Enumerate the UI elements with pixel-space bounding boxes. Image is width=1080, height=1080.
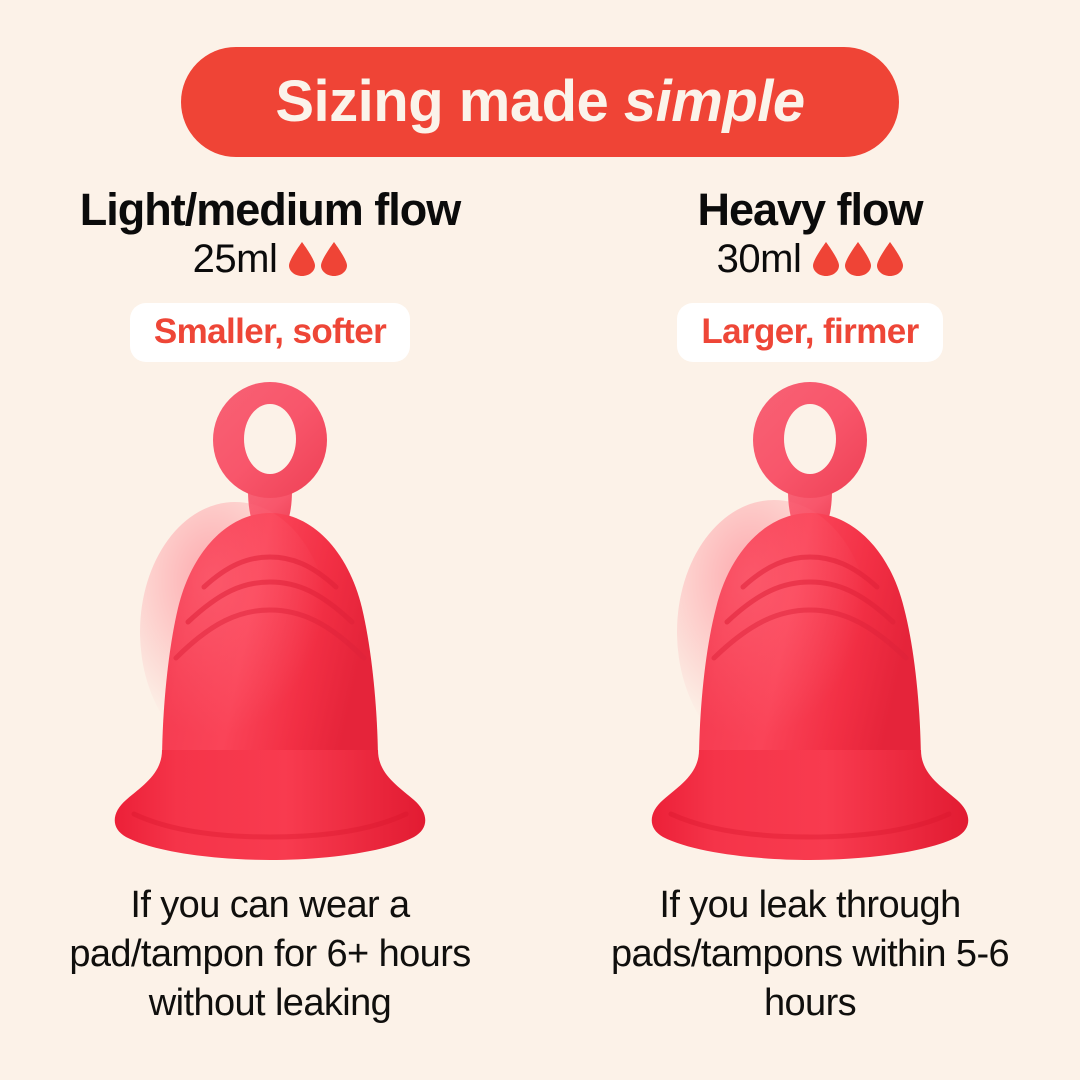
cup-illustration-area (540, 382, 1080, 879)
blood-drop-icon (845, 242, 871, 276)
page-title-emphasis: simple (624, 69, 805, 134)
menstrual-cup-large-illustration (638, 382, 982, 879)
drop-rating (813, 242, 903, 276)
column-title: Light/medium flow (80, 185, 460, 235)
page-title: Sizing made simple (275, 73, 804, 131)
page-title-prefix: Sizing made (275, 69, 624, 134)
blood-drop-icon (321, 242, 347, 276)
title-pill: Sizing made simple (181, 47, 899, 157)
volume-row: 25ml (193, 239, 348, 279)
blood-drop-icon (877, 242, 903, 276)
attribute-badge-label: Larger, firmer (701, 312, 918, 351)
volume-value: 25ml (193, 239, 278, 279)
usage-caption: If you leak through pads/tampons within … (575, 881, 1045, 1027)
drop-rating (289, 242, 347, 276)
menstrual-cup-small-illustration (100, 382, 440, 879)
blood-drop-icon (813, 242, 839, 276)
column-title: Heavy flow (697, 185, 922, 235)
cup-illustration-area (0, 382, 540, 879)
attribute-badge-label: Smaller, softer (154, 312, 386, 351)
column-light-medium: Light/medium flow 25ml Smaller, softer (0, 185, 540, 1080)
column-heavy: Heavy flow 30ml Larger, firmer (540, 185, 1080, 1080)
sizing-comparison: Light/medium flow 25ml Smaller, softer (0, 185, 1080, 1080)
attribute-badge: Smaller, softer (130, 303, 410, 362)
volume-value: 30ml (717, 239, 802, 279)
blood-drop-icon (289, 242, 315, 276)
volume-row: 30ml (717, 239, 904, 279)
attribute-badge: Larger, firmer (677, 303, 942, 362)
usage-caption: If you can wear a pad/tampon for 6+ hour… (35, 881, 505, 1027)
header: Sizing made simple (0, 47, 1080, 157)
